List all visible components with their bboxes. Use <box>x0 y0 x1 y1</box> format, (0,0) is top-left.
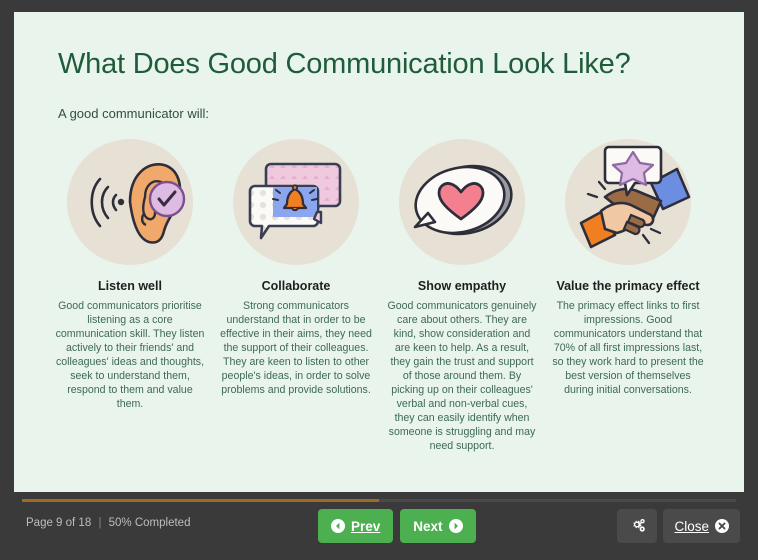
card-listen-well: Listen well Good communicators prioritis… <box>52 139 208 454</box>
card-title: Collaborate <box>262 279 331 293</box>
status-separator: | <box>98 517 101 529</box>
close-button[interactable]: Close <box>663 509 740 543</box>
prev-button[interactable]: Prev <box>318 509 393 543</box>
navigation-buttons: Prev Next <box>318 509 476 543</box>
settings-button[interactable] <box>617 509 657 543</box>
arrow-right-circle-icon <box>449 519 463 533</box>
card-title: Listen well <box>98 279 162 293</box>
progress-bar[interactable] <box>22 499 736 502</box>
ear-listening-icon <box>67 139 193 265</box>
speech-bubbles-bell-icon <box>233 139 359 265</box>
arrow-left-circle-icon <box>331 519 345 533</box>
player-footer: Page 9 of 18 | 50% Completed Prev Next <box>0 503 758 560</box>
progress-bar-fill <box>22 499 379 502</box>
card-show-empathy: Show empathy Good communicators genuinel… <box>384 139 540 454</box>
slide-subtitle: A good communicator will: <box>58 106 714 121</box>
page-number-label: Page 9 of 18 <box>26 517 91 529</box>
progress-label: 50% Completed <box>109 517 191 529</box>
close-circle-icon <box>715 519 729 533</box>
prev-button-label: Prev <box>351 519 380 534</box>
card-list: Listen well Good communicators prioritis… <box>44 139 714 454</box>
card-text: The primacy effect links to first impres… <box>552 300 704 398</box>
card-collaborate: Collaborate Strong communicators underst… <box>218 139 374 454</box>
close-button-label: Close <box>674 519 709 534</box>
course-player: What Does Good Communication Look Like? … <box>0 0 758 560</box>
page-status: Page 9 of 18 | 50% Completed <box>26 517 190 529</box>
utility-buttons: Close <box>617 509 740 543</box>
card-title: Show empathy <box>418 279 506 293</box>
handshake-star-icon <box>565 139 691 265</box>
card-text: Strong communicators understand that in … <box>220 300 372 398</box>
card-text: Good communicators genuinely care about … <box>386 300 538 454</box>
card-text: Good communicators prioritise listening … <box>54 300 206 412</box>
card-title: Value the primacy effect <box>556 279 699 293</box>
speech-bubble-heart-icon <box>399 139 525 265</box>
page-title: What Does Good Communication Look Like? <box>58 48 714 81</box>
gears-icon <box>628 518 646 534</box>
card-value-primacy-effect: Value the primacy effect The primacy eff… <box>550 139 706 454</box>
slide-content: What Does Good Communication Look Like? … <box>14 12 744 492</box>
next-button[interactable]: Next <box>400 509 475 543</box>
next-button-label: Next <box>413 519 442 534</box>
